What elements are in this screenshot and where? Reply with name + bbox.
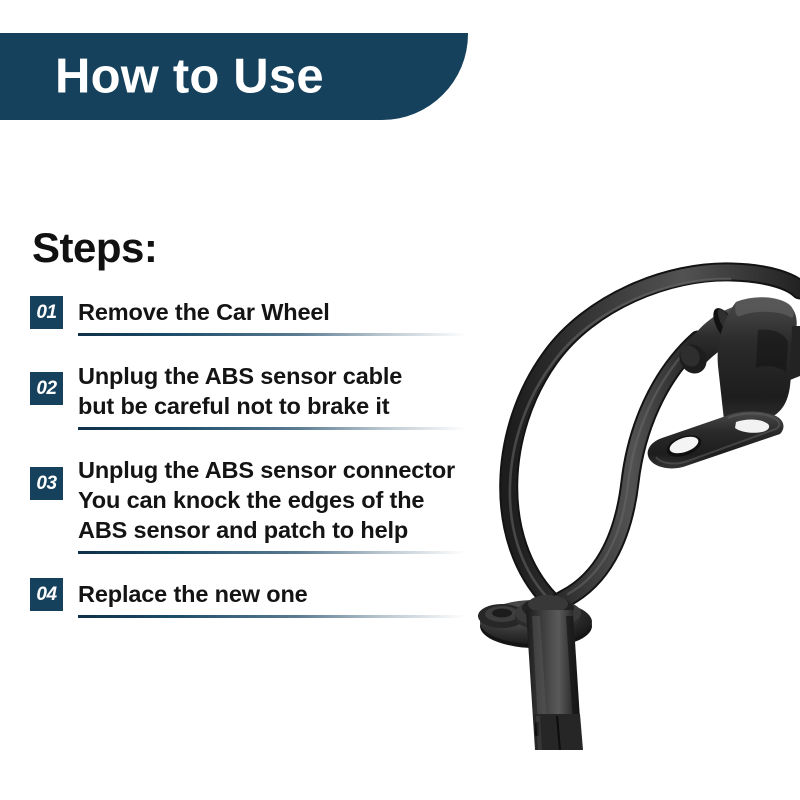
how-to-use-page: How to Use Steps: 01 Remove the Car Whee… <box>0 0 800 800</box>
product-image <box>440 130 800 750</box>
step-number-badge: 04 <box>30 578 63 611</box>
step-number-badge: 02 <box>30 372 63 405</box>
step-text: Unplug the ABS sensor cable but be caref… <box>78 360 402 421</box>
step-divider <box>78 427 500 430</box>
step-item-02: 02 Unplug the ABS sensor cable but be ca… <box>30 360 500 430</box>
step-text: Unplug the ABS sensor connector You can … <box>78 454 455 545</box>
abs-sensor-illustration <box>440 130 800 750</box>
step-divider <box>78 551 500 554</box>
step-number-badge: 01 <box>30 296 63 329</box>
step-number-badge: 03 <box>30 467 63 500</box>
page-title: How to Use <box>55 52 324 101</box>
step-divider <box>78 333 500 336</box>
step-text: Replace the new one <box>78 578 308 609</box>
step-text: Remove the Car Wheel <box>78 296 330 327</box>
step-item-04: 04 Replace the new one <box>30 578 500 618</box>
step-divider <box>78 615 500 618</box>
steps-heading: Steps: <box>32 224 157 272</box>
step-item-03: 03 Unplug the ABS sensor connector You c… <box>30 454 500 554</box>
steps-list: 01 Remove the Car Wheel 02 Unplug the AB… <box>30 296 500 642</box>
header-banner: How to Use <box>0 33 468 120</box>
step-item-01: 01 Remove the Car Wheel <box>30 296 500 336</box>
